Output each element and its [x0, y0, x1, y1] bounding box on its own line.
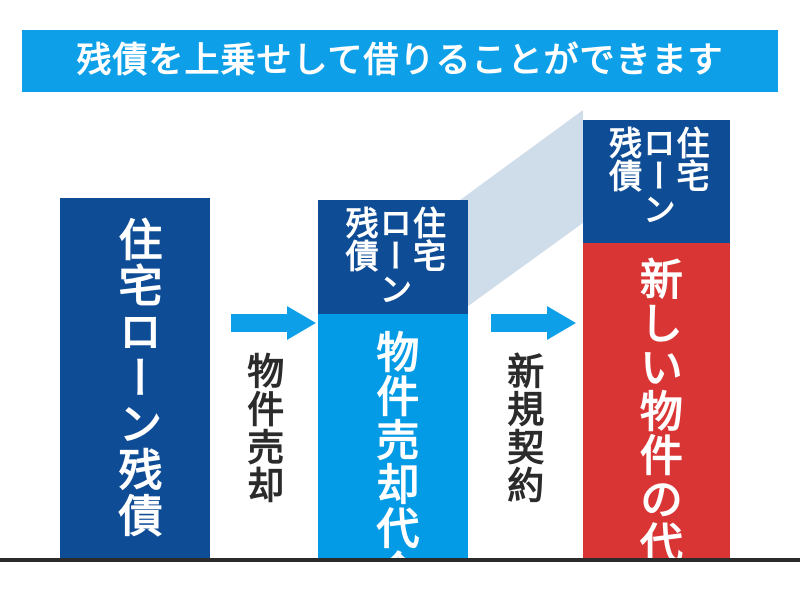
segment-label-line-1: 住宅 — [410, 206, 444, 272]
bar-after-sale-proceeds-text: 物件売却代金 — [318, 314, 468, 558]
bar-current-loan-balance-text: 住宅ローン残債 — [60, 198, 210, 558]
segment-label-line-3: 残債 — [343, 206, 377, 272]
arrow-right-icon — [231, 306, 316, 340]
baseline-rule — [0, 558, 800, 562]
segment-label: 物件売却代金 — [371, 330, 415, 558]
diagram-canvas: 残債を上乗せして借りることができます 住宅ローン残債 物件売却 住宅 ローン 残… — [0, 0, 800, 600]
segment-label: 住宅ローン残債 — [113, 217, 158, 539]
page-title: 残債を上乗せして借りることができます — [77, 44, 724, 79]
segment-label-line-2: ローン — [376, 206, 410, 305]
bar-new-property-price: 新しい物件の代金 — [583, 243, 730, 558]
segment-label: 新しい物件の代金 — [635, 257, 679, 558]
segment-label-line-3: 残債 — [606, 126, 640, 192]
arrow-right-icon-new-contract — [491, 306, 576, 340]
bar-after-sale-proceeds: 物件売却代金 — [318, 314, 468, 558]
segment-label-line-2: ローン — [640, 126, 674, 225]
connector-shape-icon — [460, 110, 592, 330]
title-banner: 残債を上乗せして借りることができます — [22, 30, 778, 92]
carryover-connector — [460, 110, 592, 330]
transition-label-sell-property: 物件売却 — [243, 352, 281, 504]
bar-new-contract-loan-balance-text: 住宅 ローン 残債 — [583, 120, 730, 243]
bar-after-sale-loan-balance-text: 住宅 ローン 残債 — [318, 200, 468, 314]
bar-new-property-price-text: 新しい物件の代金 — [583, 243, 730, 558]
transition-label-new-contract: 新規契約 — [503, 352, 541, 504]
bar-after-sale-loan-balance: 住宅 ローン 残債 — [318, 200, 468, 314]
segment-label-line-1: 住宅 — [673, 126, 707, 192]
bar-new-contract-loan-balance: 住宅 ローン 残債 — [583, 120, 730, 243]
bar-current-loan-balance: 住宅ローン残債 — [60, 198, 210, 558]
arrow-right-icon — [491, 306, 576, 340]
arrow-right-icon-sell-property — [231, 306, 316, 340]
